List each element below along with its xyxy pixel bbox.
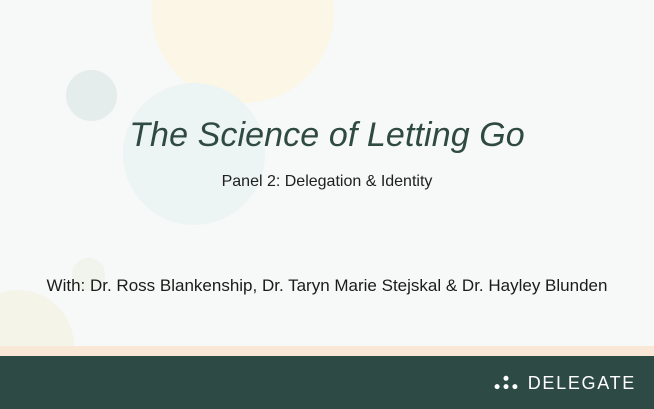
brand-name: DELEGATE bbox=[528, 373, 636, 393]
brand-lockup: DELEGATE bbox=[493, 356, 636, 409]
slide-subtitle: Panel 2: Delegation & Identity bbox=[0, 171, 654, 193]
slide-title: The Science of Letting Go bbox=[0, 113, 654, 157]
presentation-slide: The Science of Letting Go Panel 2: Deleg… bbox=[0, 0, 654, 409]
presenter-list: With: Dr. Ross Blankenship, Dr. Taryn Ma… bbox=[0, 274, 654, 298]
delegate-dots-icon bbox=[493, 374, 519, 391]
accent-strip bbox=[0, 346, 654, 356]
footer-bar: DELEGATE bbox=[0, 356, 654, 409]
